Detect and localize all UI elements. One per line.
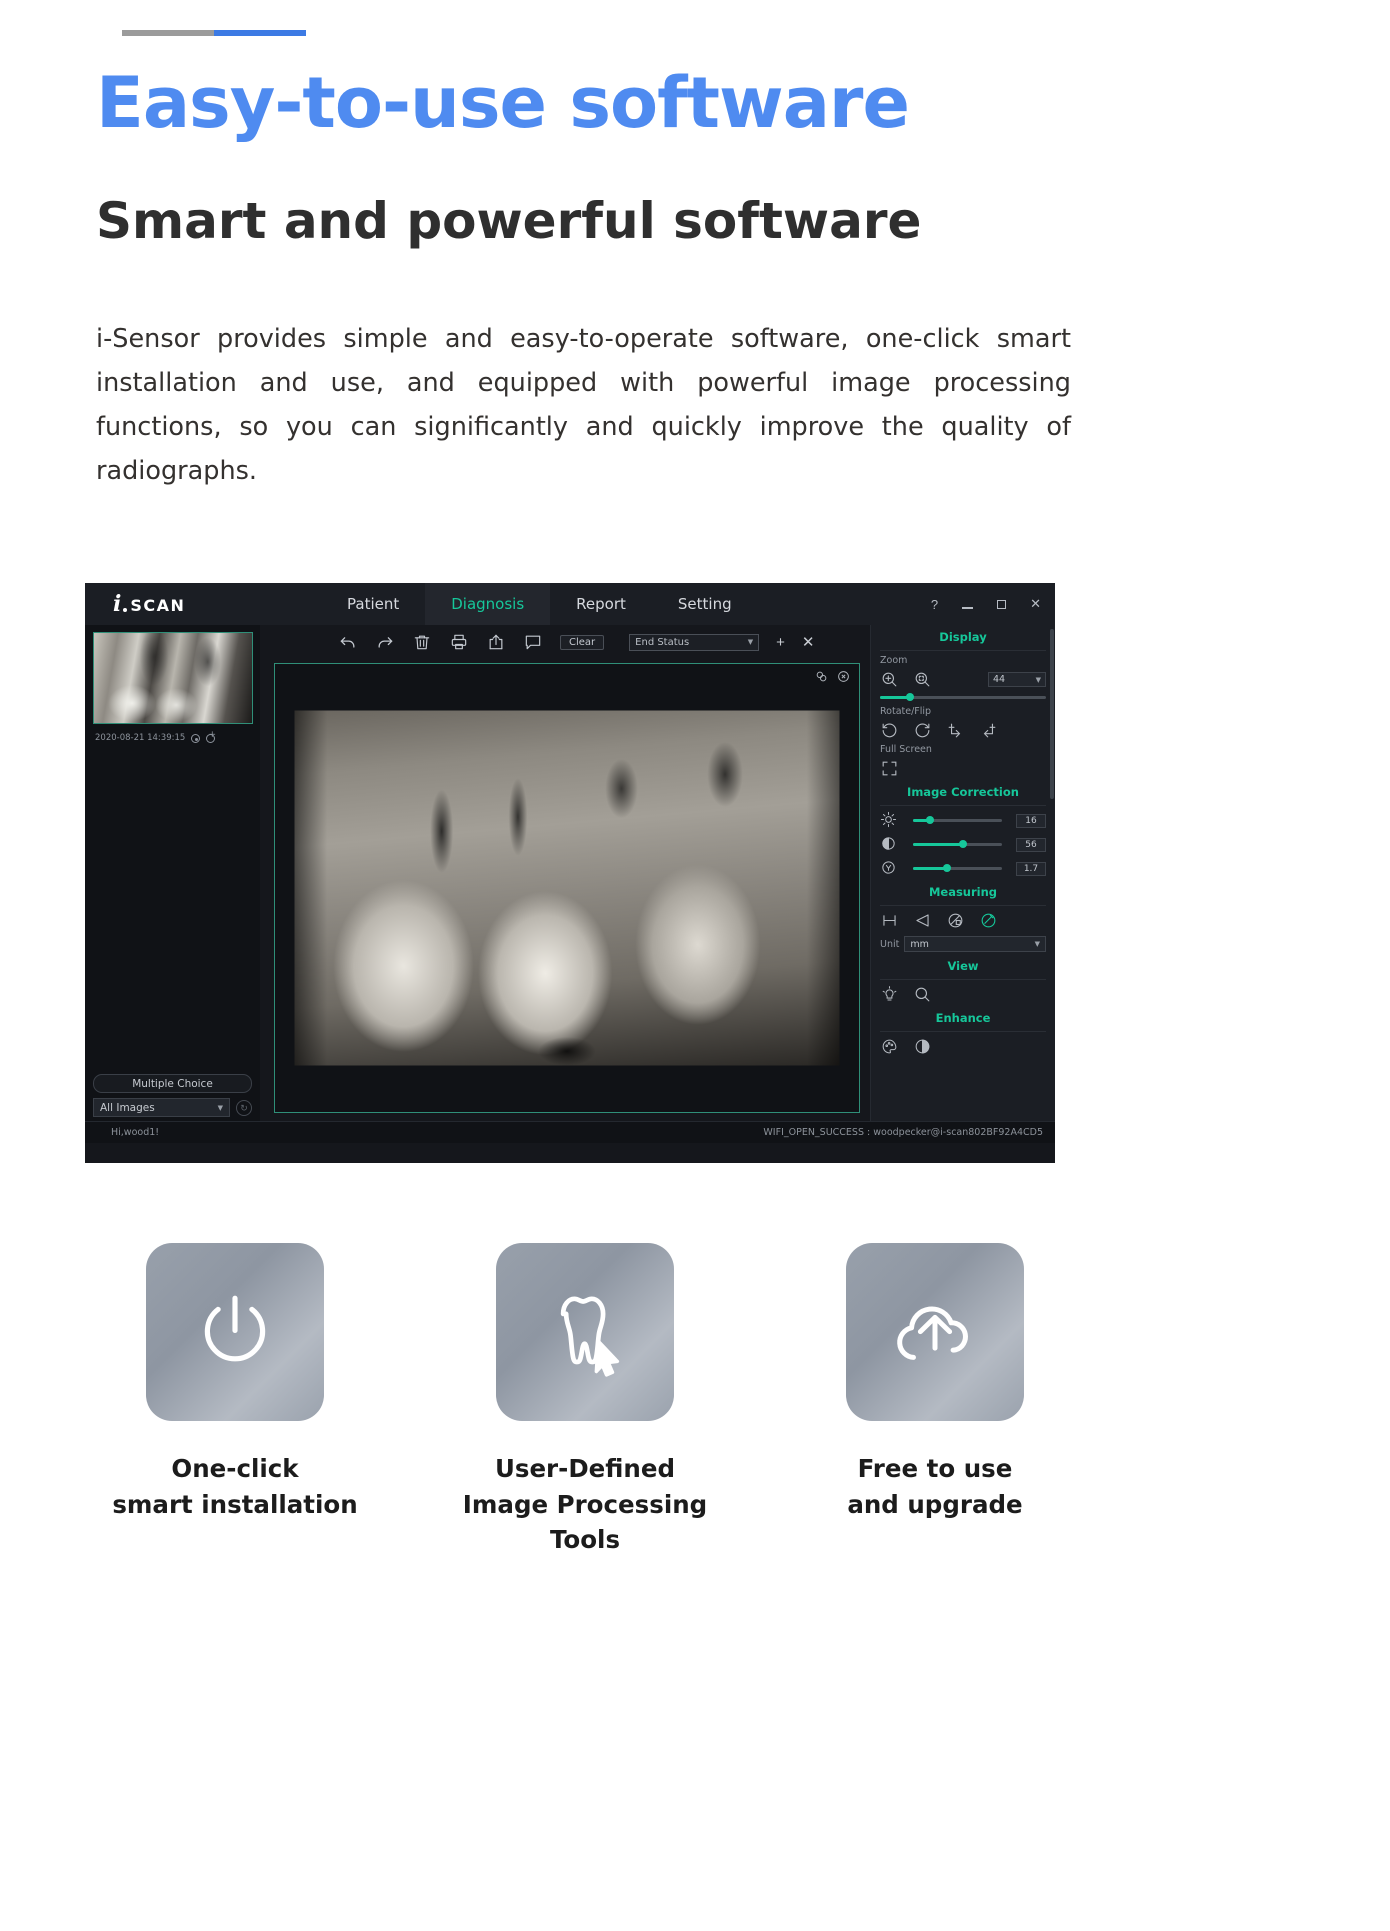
- link-icon[interactable]: [815, 670, 828, 683]
- gamma-slider-track[interactable]: [913, 867, 1002, 870]
- cloud-upload-icon: [885, 1282, 985, 1382]
- zoom-slider-knob[interactable]: [906, 693, 914, 701]
- thumbnail-image[interactable]: [93, 632, 253, 724]
- minimize-icon[interactable]: [962, 597, 973, 612]
- zoom-slider[interactable]: [880, 691, 1046, 704]
- eyebrow-rules: [122, 30, 306, 36]
- logo-i: i: [113, 593, 121, 615]
- feature-tile: [846, 1243, 1024, 1421]
- print-icon[interactable]: [449, 632, 469, 652]
- image-filter-value: All Images: [100, 1102, 155, 1114]
- measure-angle-icon[interactable]: [913, 911, 932, 930]
- feature-item: Free to use and upgrade: [785, 1243, 1085, 1558]
- logo-word: SCAN: [130, 596, 185, 615]
- divider: [880, 905, 1046, 906]
- unit-select[interactable]: mm ▼: [904, 936, 1046, 952]
- zoom-in-icon[interactable]: [880, 670, 899, 689]
- image-filter-select[interactable]: All Images ▼: [93, 1098, 230, 1117]
- thumbnail-meta: 2020-08-21 14:39:15: [95, 733, 260, 743]
- thumbnail-info-icon[interactable]: [191, 734, 200, 743]
- measure-freehand-icon[interactable]: [979, 911, 998, 930]
- add-status-button[interactable]: +: [776, 635, 785, 650]
- thumbnail-timestamp: 2020-08-21 14:39:15: [95, 733, 185, 743]
- rail-filter-row: All Images ▼ ↻: [93, 1098, 252, 1117]
- rail-footer: Multiple Choice All Images ▼ ↻: [85, 1074, 260, 1117]
- measuring-row: [880, 908, 1046, 932]
- page-headline: Easy-to-use software: [96, 68, 909, 138]
- end-status-value: End Status: [635, 637, 689, 648]
- view-row: [880, 982, 1046, 1006]
- measure-length-icon[interactable]: [880, 911, 899, 930]
- feature-label: User-Defined Image Processing Tools: [435, 1451, 735, 1558]
- gamma-value[interactable]: 1.7: [1016, 862, 1046, 876]
- rule-blue: [214, 30, 306, 36]
- brightness-slider-knob[interactable]: [926, 816, 934, 824]
- tab-setting[interactable]: Setting: [652, 583, 758, 625]
- app-titlebar: i SCAN Patient Diagnosis Report Setting …: [85, 583, 1055, 625]
- feature-label-line1: One-click: [112, 1451, 357, 1487]
- gamma-icon: [880, 859, 899, 878]
- unit-value: mm: [910, 939, 929, 950]
- contrast-icon: [880, 835, 899, 854]
- chevron-down-icon: ▼: [218, 1104, 223, 1112]
- panel-title-measuring: Measuring: [880, 880, 1046, 903]
- power-icon: [189, 1286, 281, 1378]
- feature-label-line2: and upgrade: [847, 1487, 1022, 1523]
- feature-label: Free to use and upgrade: [847, 1451, 1022, 1522]
- tools-panel: Display Zoom 44 ▼: [870, 625, 1055, 1121]
- feature-label-line2: Image Processing Tools: [435, 1487, 735, 1558]
- divider: [880, 1031, 1046, 1032]
- contrast-slider-knob[interactable]: [959, 840, 967, 848]
- fullscreen-icon[interactable]: [880, 759, 899, 778]
- gamma-slider-knob[interactable]: [943, 864, 951, 872]
- rule-grey: [122, 30, 214, 36]
- unit-row: Unit mm ▼: [880, 932, 1046, 954]
- zoom-fit-icon[interactable]: [913, 670, 932, 689]
- refresh-icon[interactable]: ↻: [236, 1100, 252, 1116]
- panel-title-enhance: Enhance: [880, 1006, 1046, 1029]
- divider: [880, 805, 1046, 806]
- statusbar-greeting: Hi,wood1!: [111, 1127, 159, 1138]
- tab-patient[interactable]: Patient: [321, 583, 425, 625]
- measure-area-icon[interactable]: [946, 911, 965, 930]
- feature-label: One-click smart installation: [112, 1451, 357, 1522]
- page-subheadline: Smart and powerful software: [96, 196, 921, 246]
- multiple-choice-button[interactable]: Multiple Choice: [93, 1074, 252, 1093]
- chevron-down-icon: ▼: [748, 638, 753, 646]
- panel-title-image-correction: Image Correction: [880, 780, 1046, 803]
- feature-label-line1: Free to use: [847, 1451, 1022, 1487]
- tooth-cursor-icon: [536, 1283, 634, 1381]
- full-screen-label: Full Screen: [880, 742, 1046, 756]
- magnifier-icon[interactable]: [913, 985, 932, 1004]
- maximize-icon[interactable]: [997, 597, 1006, 612]
- feature-list: One-click smart installation User-Define…: [85, 1243, 1085, 1558]
- feature-item: One-click smart installation: [85, 1243, 385, 1558]
- gamma-row: 1.7: [880, 856, 1046, 880]
- contrast-slider-fill: [913, 843, 963, 846]
- tab-report[interactable]: Report: [550, 583, 652, 625]
- enhance-row: [880, 1034, 1046, 1058]
- rotate-ccw-icon[interactable]: [880, 721, 899, 740]
- help-icon[interactable]: ?: [931, 597, 938, 612]
- feature-tile: [496, 1243, 674, 1421]
- feature-label-line2: smart installation: [112, 1487, 357, 1523]
- thumbnail-rail: 2020-08-21 14:39:15 Multiple Choice All …: [85, 625, 260, 1121]
- zoom-value-box[interactable]: 44 ▼: [988, 672, 1046, 687]
- comment-icon[interactable]: [523, 632, 543, 652]
- trash-icon[interactable]: [412, 632, 432, 652]
- palette-icon[interactable]: [880, 1037, 899, 1056]
- feature-label-line1: User-Defined: [435, 1451, 735, 1487]
- flip-vertical-icon[interactable]: [979, 721, 998, 740]
- app-statusbar: Hi,wood1! WIFI_OPEN_SUCCESS : woodpecker…: [85, 1121, 1055, 1143]
- upload-icon[interactable]: [486, 632, 506, 652]
- divider: [880, 650, 1046, 651]
- contrast-value[interactable]: 56: [1016, 838, 1046, 852]
- image-canvas[interactable]: [274, 663, 860, 1113]
- view-brightness-icon[interactable]: [880, 985, 899, 1004]
- invert-icon[interactable]: [913, 1037, 932, 1056]
- app-logo: i SCAN: [113, 593, 263, 615]
- contrast-row: 56: [880, 832, 1046, 856]
- gamma-slider-fill: [913, 867, 947, 870]
- tab-diagnosis[interactable]: Diagnosis: [425, 583, 550, 625]
- xray-image[interactable]: [295, 711, 840, 1066]
- feature-item: User-Defined Image Processing Tools: [435, 1243, 735, 1558]
- rotate-flip-label: Rotate/Flip: [880, 704, 1046, 718]
- flip-horizontal-icon[interactable]: [946, 721, 965, 740]
- app-screenshot: i SCAN Patient Diagnosis Report Setting …: [85, 583, 1055, 1163]
- brightness-slider-track[interactable]: [913, 819, 1002, 822]
- divider: [880, 979, 1046, 980]
- viewer-toolbar: Clear End Status ▼ + ✕: [260, 625, 870, 659]
- feature-tile: [146, 1243, 324, 1421]
- panel-scrollbar[interactable]: [1050, 629, 1054, 799]
- zoom-row: 44 ▼: [880, 667, 1046, 691]
- page-root: Easy-to-use software Smart and powerful …: [0, 0, 1390, 1931]
- statusbar-connection: WIFI_OPEN_SUCCESS : woodpecker@i-scan802…: [763, 1127, 1043, 1138]
- undo-icon[interactable]: [338, 632, 358, 652]
- panel-title-display: Display: [880, 625, 1046, 648]
- redo-icon[interactable]: [375, 632, 395, 652]
- window-controls: ? ✕: [931, 583, 1041, 625]
- contrast-slider-track[interactable]: [913, 843, 1002, 846]
- app-body: 2020-08-21 14:39:15 Multiple Choice All …: [85, 625, 1055, 1121]
- close-image-icon[interactable]: [837, 670, 850, 683]
- rotate-cw-icon[interactable]: [913, 721, 932, 740]
- brightness-value[interactable]: 16: [1016, 814, 1046, 828]
- end-status-select[interactable]: End Status ▼: [629, 634, 759, 651]
- thumbnail-add-icon[interactable]: [206, 734, 215, 743]
- zoom-value: 44: [993, 674, 1005, 685]
- logo-dot: [123, 608, 127, 612]
- canvas-tools: [815, 670, 850, 683]
- rotate-flip-row: [880, 718, 1046, 742]
- zoom-label: Zoom: [880, 653, 1046, 667]
- unit-label: Unit: [880, 939, 899, 950]
- close-icon[interactable]: ✕: [1030, 596, 1041, 612]
- panel-title-view: View: [880, 954, 1046, 977]
- clear-button[interactable]: Clear: [560, 635, 604, 650]
- remove-status-button[interactable]: ✕: [802, 635, 815, 650]
- brightness-icon: [880, 811, 899, 830]
- page-body-text: i-Sensor provides simple and easy-to-ope…: [96, 318, 1071, 493]
- full-screen-row: [880, 756, 1046, 780]
- app-nav: Patient Diagnosis Report Setting: [321, 583, 758, 625]
- chevron-down-icon: ▼: [1035, 940, 1040, 948]
- brightness-row: 16: [880, 808, 1046, 832]
- chevron-down-icon: ▼: [1036, 676, 1041, 684]
- zoom-slider-track[interactable]: [880, 696, 1046, 699]
- viewer-area: Clear End Status ▼ + ✕: [260, 625, 870, 1121]
